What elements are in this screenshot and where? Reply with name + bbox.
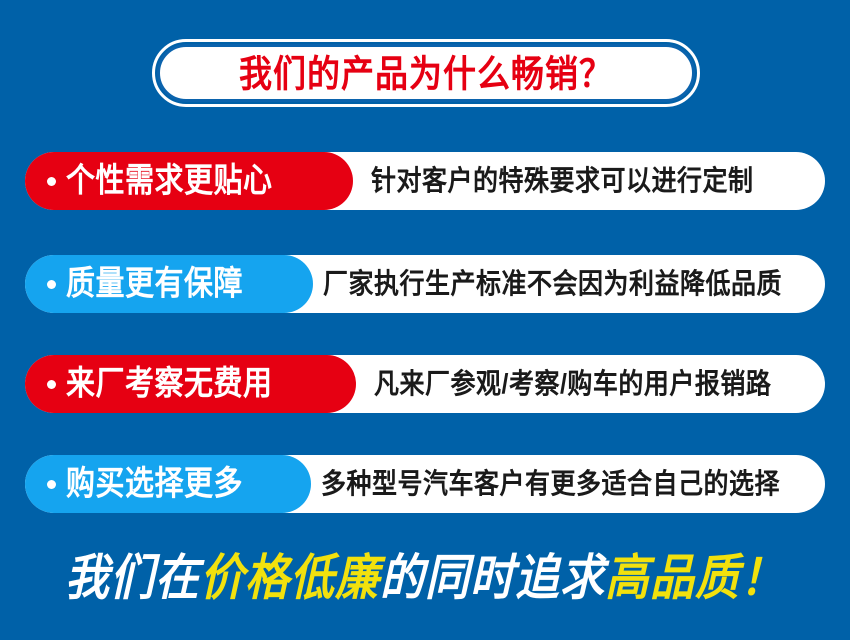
promo-poster: 我们的产品为什么畅销？ 个性需求更贴心 针对客户的特殊要求可以进行定制 质量更有… (0, 0, 850, 640)
dot-bullet-icon (47, 380, 56, 389)
dot-bullet-icon (47, 280, 56, 289)
feature-desc-3: 凡来厂参观/考察/购车的用户报销路 (374, 370, 771, 398)
page-title: 我们的产品为什么畅销？ (239, 55, 613, 92)
footer-part-3: 的同时追求 (380, 551, 605, 606)
feature-tag-label-1: 个性需求更贴心 (66, 164, 273, 197)
feature-desc-4: 多种型号汽车客户有更多适合自己的选择 (321, 470, 780, 498)
feature-tag-4: 购买选择更多 (25, 455, 311, 513)
feature-desc-1: 针对客户的特殊要求可以进行定制 (371, 167, 754, 195)
feature-row: 质量更有保障 厂家执行生产标准不会因为利益降低品质 (25, 255, 825, 313)
feature-row: 来厂考察无费用 凡来厂参观/考察/购车的用户报销路 (25, 355, 825, 413)
feature-row: 个性需求更贴心 针对客户的特殊要求可以进行定制 (25, 152, 825, 210)
feature-tag-1: 个性需求更贴心 (25, 152, 353, 210)
dot-bullet-icon (47, 480, 56, 489)
footer-part-1: 我们在 (65, 551, 200, 606)
feature-tag-3: 来厂考察无费用 (25, 355, 356, 413)
dot-bullet-icon (47, 177, 56, 186)
footer-part-4: 高品质！ (605, 551, 785, 606)
feature-tag-2: 质量更有保障 (25, 255, 313, 313)
feature-tag-label-4: 购买选择更多 (66, 467, 243, 500)
footer-slogan: 我们在价格低廉的同时追求高品质！ (0, 543, 850, 615)
feature-tag-label-2: 质量更有保障 (66, 267, 243, 300)
title-banner: 我们的产品为什么畅销？ (152, 39, 700, 107)
feature-row: 购买选择更多 多种型号汽车客户有更多适合自己的选择 (25, 455, 825, 513)
feature-tag-label-3: 来厂考察无费用 (66, 367, 273, 400)
feature-desc-2: 厂家执行生产标准不会因为利益降低品质 (323, 270, 782, 298)
title-pill: 我们的产品为什么畅销？ (157, 44, 695, 102)
footer-part-2: 价格低廉 (200, 551, 380, 606)
